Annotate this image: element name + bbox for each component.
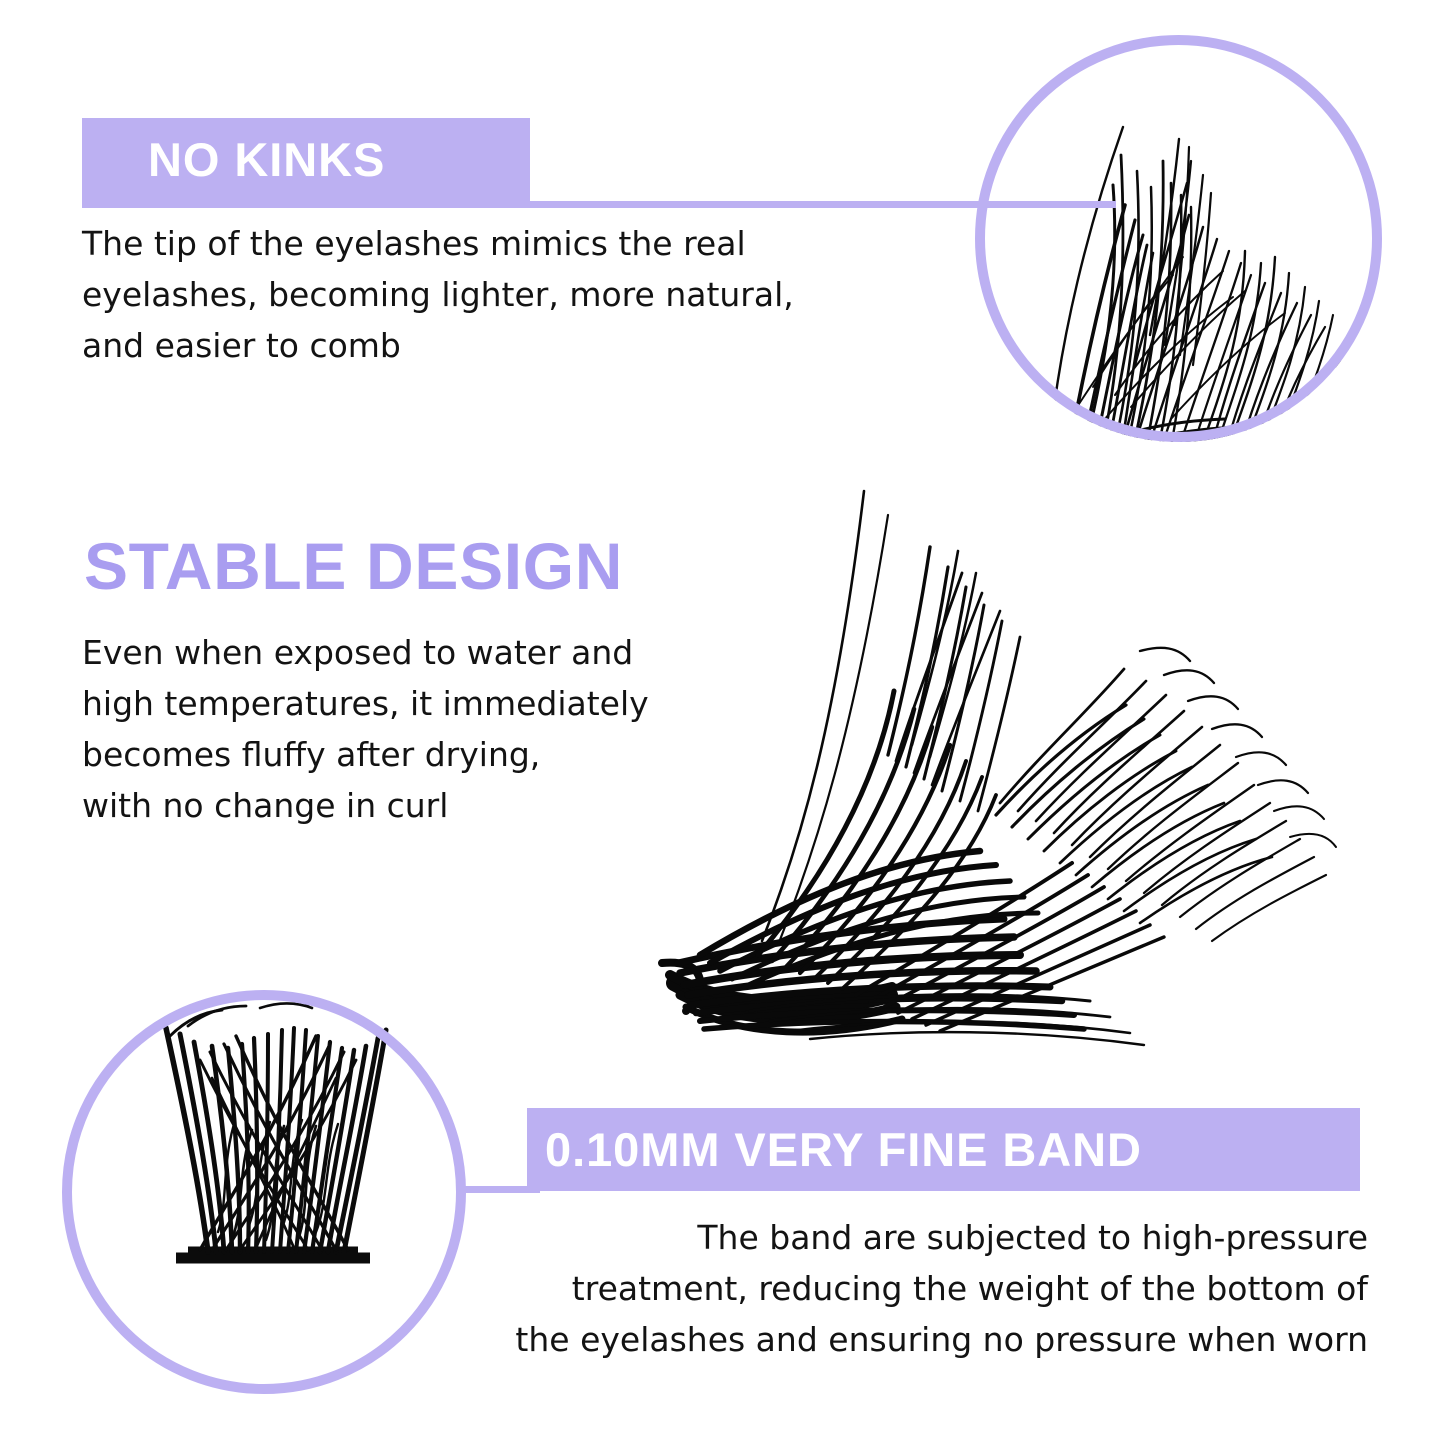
feature-heading-label: 0.10MM VERY FINE BAND (545, 1122, 1142, 1177)
feature-body-fine-band: The band are subjected to high-pressure … (400, 1212, 1368, 1365)
feature-heading-fine-band: 0.10MM VERY FINE BAND (527, 1108, 1360, 1191)
connector-line-no-kinks (82, 201, 1116, 208)
lash-tips-circle-ring (975, 35, 1382, 442)
feature-heading-no-kinks: NO KINKS (82, 118, 530, 201)
infographic-page: NO KINKS The tip of the eyelashes mimics… (0, 0, 1445, 1445)
feature-body-stable-design: Even when exposed to water and high temp… (82, 627, 782, 831)
feature-heading-label: NO KINKS (148, 132, 385, 187)
feature-body-no-kinks: The tip of the eyelashes mimics the real… (82, 218, 952, 371)
feature-heading-stable-design: STABLE DESIGN (84, 528, 623, 604)
